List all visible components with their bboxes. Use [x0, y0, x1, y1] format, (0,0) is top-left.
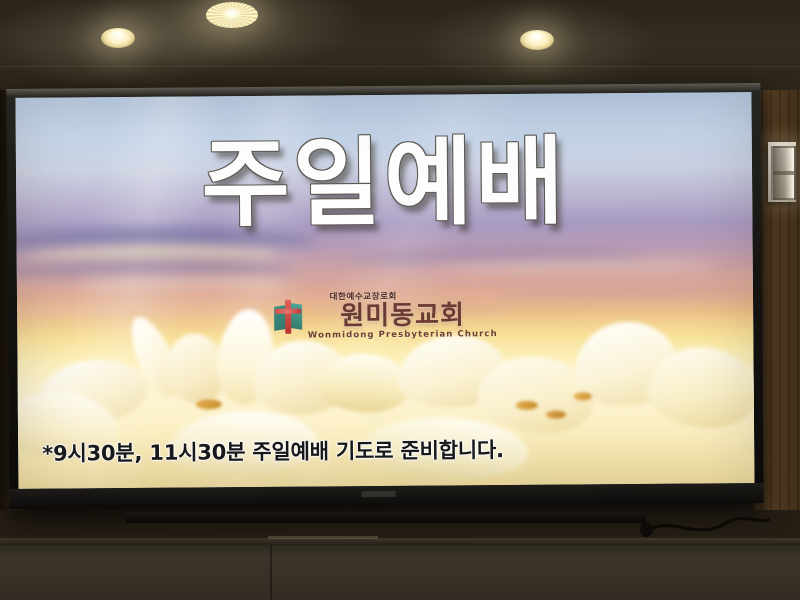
- lower-wall-panel: [0, 545, 800, 600]
- tv-wall-mount-bar: [126, 512, 646, 523]
- recessed-downlight-right-icon: [520, 30, 554, 50]
- fixture-slot-lower: [771, 173, 796, 200]
- slide-footnote: *9시30분, 11시30분 주일예배 기도로 준비합니다.: [42, 432, 732, 467]
- church-name-english: Wonmidong Presbyterian Church: [308, 330, 498, 340]
- tv-brand-mark: [362, 491, 396, 497]
- wall-mounted-light-fixture-icon: [768, 142, 796, 202]
- recessed-downlight-left-icon: [101, 28, 135, 48]
- wall-mounted-television[interactable]: 주일예배 대한예수교장로회 원미동교회 Wonmidong Presbyteri…: [6, 83, 763, 509]
- ceiling-chandelier-fixture-icon: [206, 2, 258, 28]
- fixture-slot-upper: [771, 146, 796, 173]
- church-cross-logo-icon: [273, 300, 303, 334]
- platform-highlight: [268, 536, 378, 539]
- cross-vertical-bar: [285, 300, 291, 334]
- tv-screen: 주일예배 대한예수교장로회 원미동교회 Wonmidong Presbyteri…: [15, 92, 754, 489]
- church-logo-lockup: 대한예수교장로회 원미동교회 Wonmidong Presbyterian Ch…: [17, 290, 753, 342]
- cross-horizontal-bar: [275, 309, 301, 314]
- lower-wall-seam: [270, 545, 272, 600]
- room-scene: 주일예배 대한예수교장로회 원미동교회 Wonmidong Presbyteri…: [0, 0, 800, 600]
- church-logo-text: 대한예수교장로회 원미동교회 Wonmidong Presbyterian Ch…: [308, 292, 498, 339]
- cloud-band: [77, 277, 287, 293]
- ceiling-seam: [0, 66, 800, 67]
- slide-title: 주일예배: [16, 132, 753, 234]
- church-name-korean: 원미동교회: [340, 302, 465, 329]
